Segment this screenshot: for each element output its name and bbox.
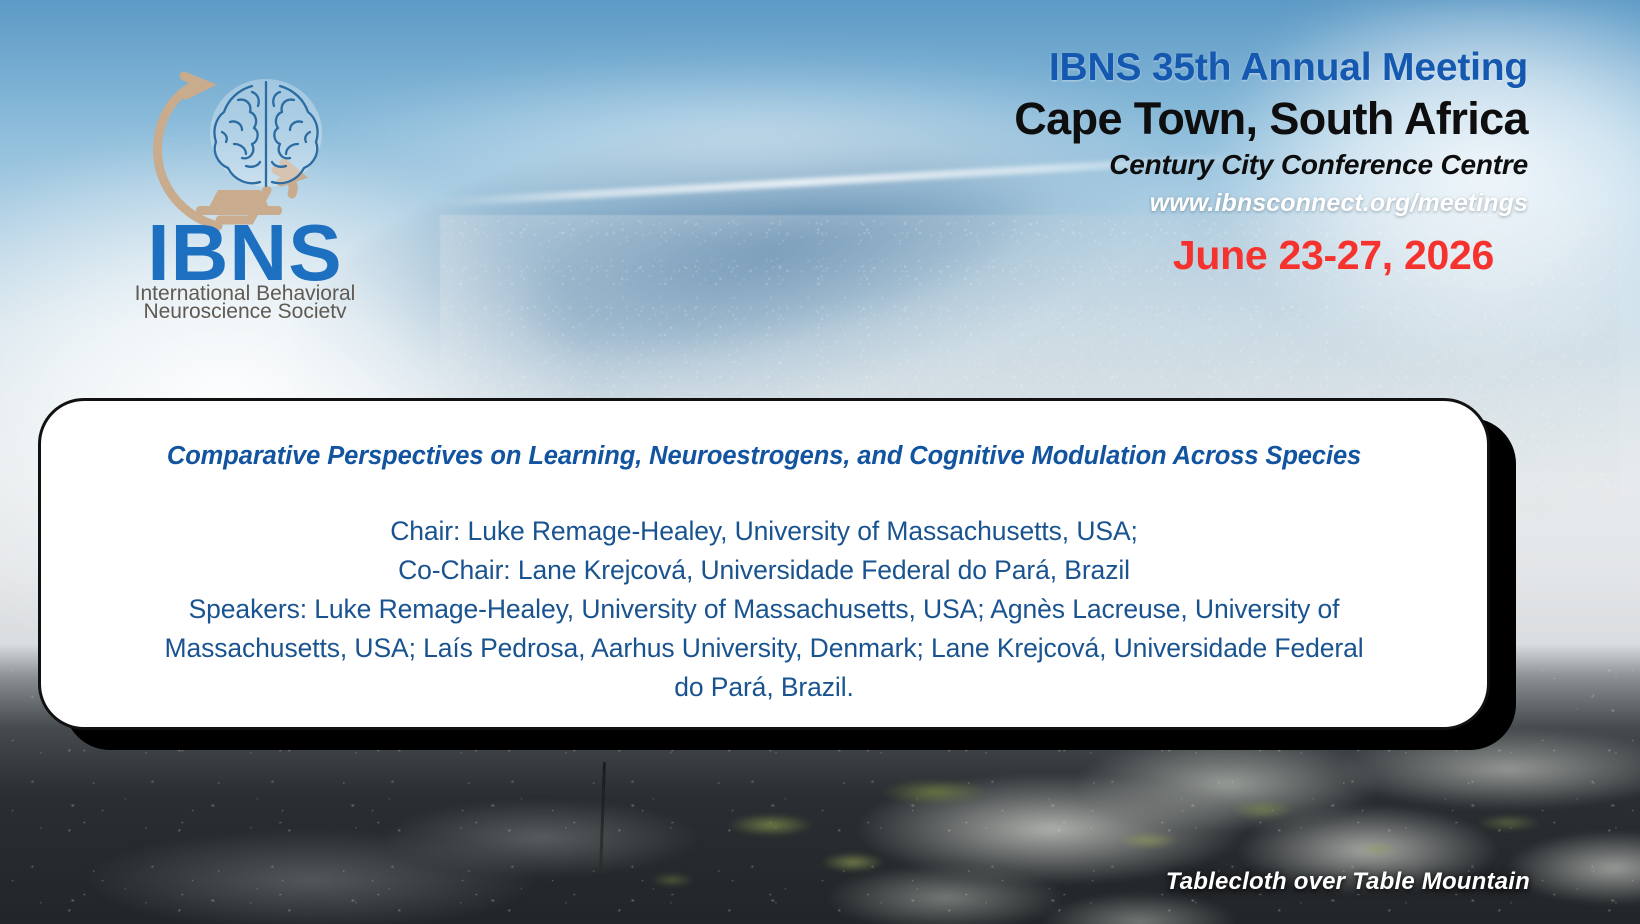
meeting-venue: Century City Conference Centre — [1014, 150, 1528, 179]
ibns-logo: IBNS International Behavioral Neuroscien… — [100, 48, 390, 318]
session-chair-line: Chair: Luke Remage-Healey, University of… — [85, 512, 1443, 551]
photo-caption: Tablecloth over Table Mountain — [1166, 868, 1530, 896]
meeting-header: IBNS 35th Annual Meeting Cape Town, Sout… — [1014, 48, 1528, 277]
session-card: Comparative Perspectives on Learning, Ne… — [38, 398, 1490, 730]
session-title: Comparative Perspectives on Learning, Ne… — [85, 441, 1443, 472]
brain-globe-icon: IBNS International Behavioral Neuroscien… — [100, 48, 390, 318]
ibns-logo-line2: Neuroscience Society — [143, 300, 347, 318]
session-card-wrapper: Comparative Perspectives on Learning, Ne… — [38, 398, 1490, 730]
conference-announcement-poster: IBNS International Behavioral Neuroscien… — [0, 0, 1640, 924]
session-participants: Chair: Luke Remage-Healey, University of… — [85, 512, 1443, 708]
meeting-dates: June 23-27, 2026 — [1014, 234, 1528, 277]
meeting-location: Cape Town, South Africa — [1014, 95, 1528, 142]
meeting-title: IBNS 35th Annual Meeting — [1014, 48, 1528, 89]
session-speakers-line-2: Massachusetts, USA; Laís Pedrosa, Aarhus… — [85, 629, 1443, 668]
meeting-website-url[interactable]: www.ibnsconnect.org/meetings — [1014, 190, 1528, 216]
session-speakers-line-1: Speakers: Luke Remage-Healey, University… — [85, 590, 1443, 629]
session-speakers-line-3: do Pará, Brazil. — [85, 668, 1443, 707]
session-cochair-line: Co-Chair: Lane Krejcová, Universidade Fe… — [85, 551, 1443, 590]
